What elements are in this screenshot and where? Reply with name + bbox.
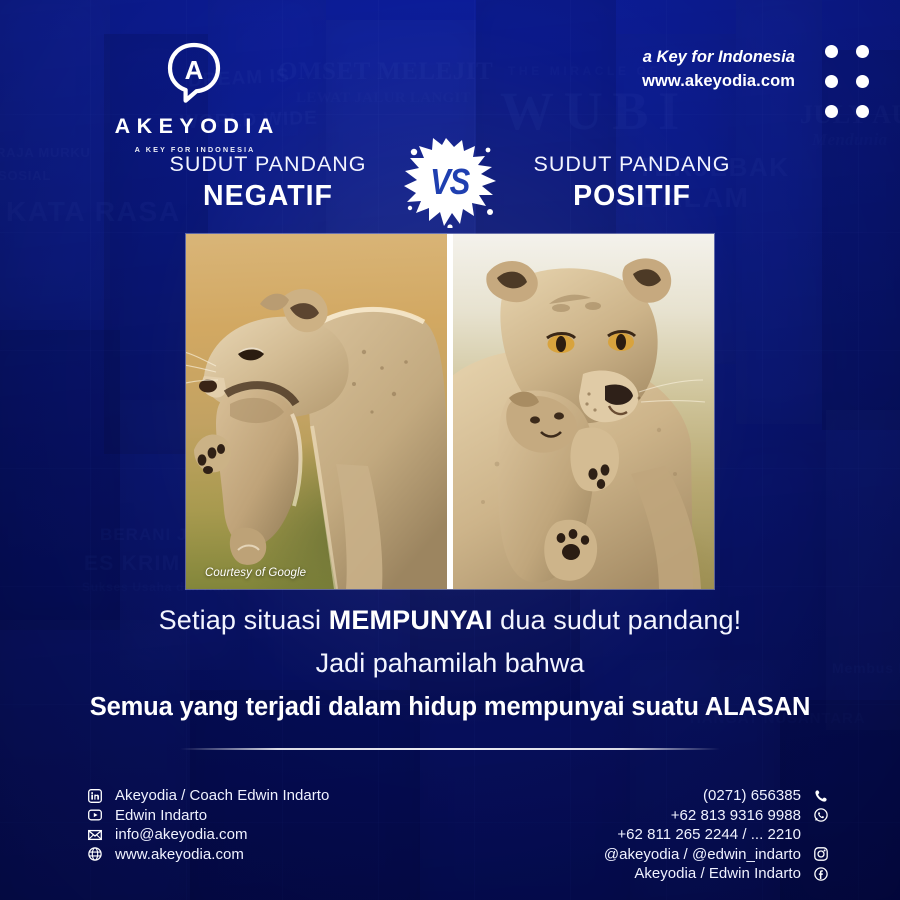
footer-text-youtube: Edwin Indarto bbox=[115, 807, 207, 824]
svg-text:A: A bbox=[185, 55, 204, 85]
footer-row-youtube[interactable]: Edwin Indarto bbox=[88, 806, 329, 826]
footer-row-whatsapp[interactable]: +62 813 9316 9988 bbox=[604, 806, 828, 826]
quote-line-1-suffix: dua sudut pandang! bbox=[493, 605, 742, 635]
header-website[interactable]: www.akeyodia.com bbox=[642, 70, 795, 94]
globe-icon bbox=[88, 847, 102, 861]
linkedin-icon bbox=[88, 789, 102, 803]
photo-pair: Courtesy of Google bbox=[186, 234, 714, 589]
footer-text-instagram: @akeyodia / @edwin_indarto bbox=[604, 846, 801, 863]
footer-row-website[interactable]: www.akeyodia.com bbox=[88, 845, 329, 865]
footer-contacts-right: (0271) 656385 +62 813 9316 9988 +62 811 … bbox=[604, 786, 828, 884]
footer-text-phone-alt: +62 811 265 2244 / ... 2210 bbox=[617, 826, 801, 843]
paint-splash-icon: VS bbox=[402, 136, 498, 228]
quote-line-1-emphasis: MEMPUNYAI bbox=[329, 605, 493, 635]
brand-logo: A AKEYODIA A KEY FOR INDONESIA bbox=[101, 42, 287, 154]
brand-name: AKEYODIA bbox=[101, 116, 287, 138]
comparison-left: SUDUT PANDANG NEGATIF bbox=[134, 153, 402, 211]
instagram-icon bbox=[814, 847, 828, 861]
no-icon-placeholder bbox=[814, 828, 828, 842]
footer-text-linkedin: Akeyodia / Coach Edwin Indarto bbox=[115, 787, 329, 804]
footer-row-linkedin[interactable]: Akeyodia / Coach Edwin Indarto bbox=[88, 786, 329, 806]
photo-lioness-profile: Courtesy of Google bbox=[186, 234, 447, 589]
quote-line-1-prefix: Setiap situasi bbox=[159, 605, 329, 635]
footer-row-facebook[interactable]: Akeyodia / Edwin Indarto bbox=[604, 864, 828, 884]
comparison-left-title: NEGATIF bbox=[134, 181, 402, 211]
quote-line-1: Setiap situasi MEMPUNYAI dua sudut panda… bbox=[0, 605, 900, 636]
akeyodia-a-mark-icon: A bbox=[165, 42, 223, 104]
facebook-icon bbox=[814, 867, 828, 881]
photo-credit: Courtesy of Google bbox=[205, 567, 306, 579]
comparison-headline: SUDUT PANDANG NEGATIF VS SUDUT PANDANG P… bbox=[0, 143, 900, 221]
footer-divider bbox=[180, 748, 720, 750]
footer-row-phone[interactable]: (0271) 656385 bbox=[604, 786, 828, 806]
poster-canvas: DREAM IS WORLD WIDE OMSET MELEJIT LEWAT … bbox=[0, 0, 900, 900]
comparison-right: SUDUT PANDANG POSITIF bbox=[498, 153, 766, 211]
footer-text-website: www.akeyodia.com bbox=[115, 846, 244, 863]
quote-block: Setiap situasi MEMPUNYAI dua sudut panda… bbox=[0, 605, 900, 722]
footer-text-email: info@akeyodia.com bbox=[115, 826, 247, 843]
youtube-icon bbox=[88, 808, 102, 822]
six-dot-grid-icon bbox=[816, 36, 878, 126]
footer-row-instagram[interactable]: @akeyodia / @edwin_indarto bbox=[604, 845, 828, 865]
footer-row-phone-alt[interactable]: +62 811 265 2244 / ... 2210 bbox=[604, 825, 828, 845]
footer-contacts-left: Akeyodia / Coach Edwin Indarto Edwin Ind… bbox=[88, 786, 329, 864]
email-icon bbox=[88, 828, 102, 842]
photo-lioness-frontal bbox=[453, 234, 714, 589]
footer-text-whatsapp: +62 813 9316 9988 bbox=[671, 807, 801, 824]
comparison-right-title: POSITIF bbox=[498, 181, 766, 211]
quote-line-3: Semua yang terjadi dalam hidup mempunyai… bbox=[0, 693, 900, 722]
header-contact: a Key for Indonesia www.akeyodia.com bbox=[642, 46, 795, 94]
header-tagline: a Key for Indonesia bbox=[642, 46, 795, 70]
phone-icon bbox=[814, 789, 828, 803]
vs-label: VS bbox=[431, 161, 470, 203]
quote-line-2: Jadi pahamilah bahwa bbox=[0, 648, 900, 679]
comparison-right-kicker: SUDUT PANDANG bbox=[498, 153, 766, 176]
whatsapp-icon bbox=[814, 808, 828, 822]
footer-text-facebook: Akeyodia / Edwin Indarto bbox=[634, 865, 801, 882]
footer-text-phone: (0271) 656385 bbox=[703, 787, 801, 804]
comparison-left-kicker: SUDUT PANDANG bbox=[134, 153, 402, 176]
footer-row-email[interactable]: info@akeyodia.com bbox=[88, 825, 329, 845]
